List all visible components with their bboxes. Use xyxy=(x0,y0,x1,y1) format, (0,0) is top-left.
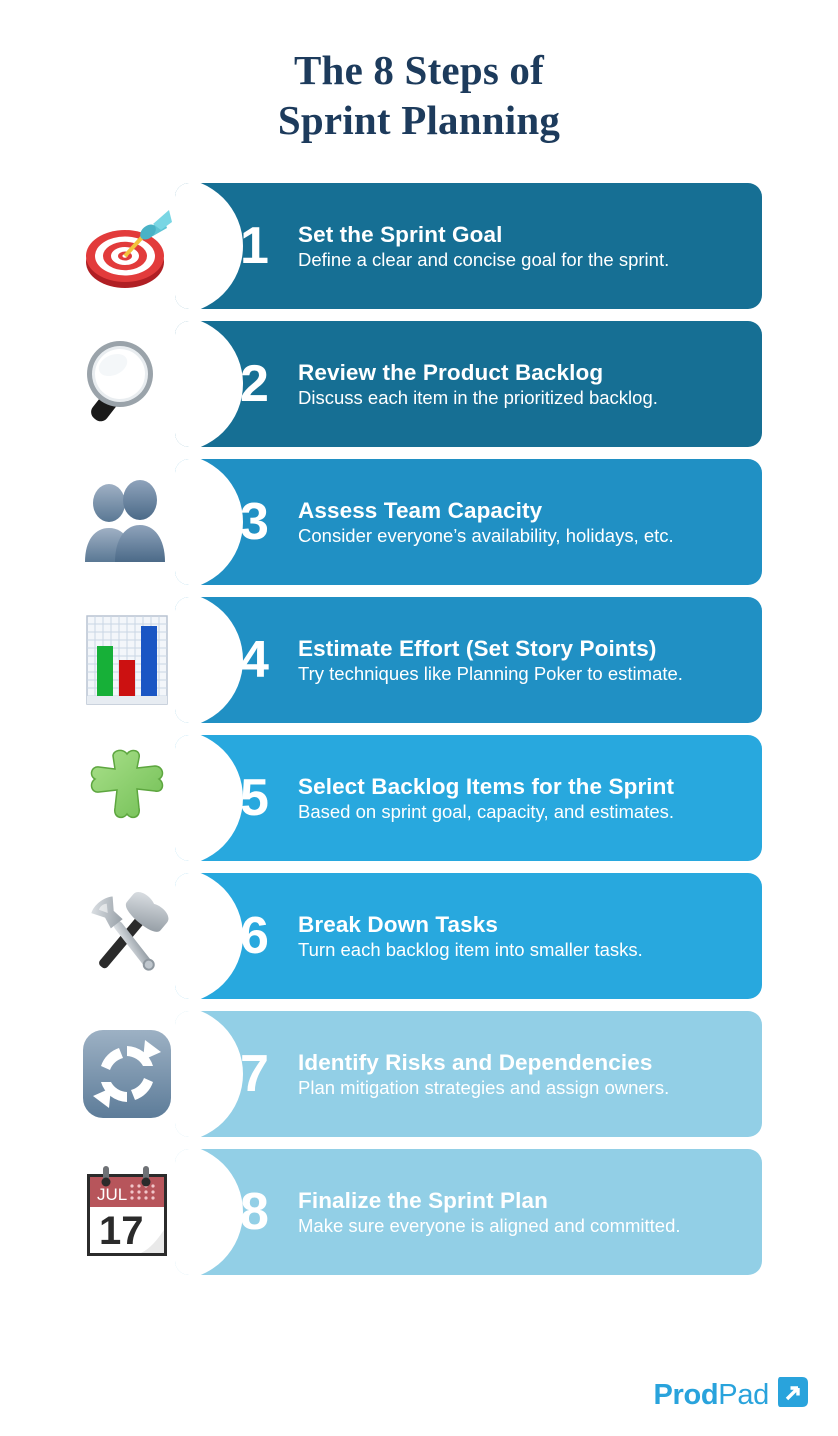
step-row: JUL 17 8Finalize the Sprint PlanMake sur… xyxy=(0,1149,838,1275)
logo-wordmark: ProdPad xyxy=(653,1380,769,1410)
puzzle-piece-icon xyxy=(75,746,179,850)
step-row: 6Break Down TasksTurn each backlog item … xyxy=(0,873,838,999)
logo-text-bold: Prod xyxy=(653,1379,718,1411)
step-description: Try techniques like Planning Poker to es… xyxy=(298,662,683,686)
step-row: 4Estimate Effort (Set Story Points)Try t… xyxy=(0,597,838,723)
step-row: 1Set the Sprint GoalDefine a clear and c… xyxy=(0,183,838,309)
step-row: 3Assess Team CapacityConsider everyone’s… xyxy=(0,459,838,585)
refresh-arrows-icon xyxy=(72,1019,182,1129)
step-content: 7Identify Risks and DependenciesPlan mit… xyxy=(240,1011,760,1137)
step-description: Define a clear and concise goal for the … xyxy=(298,248,669,272)
step-number: 5 xyxy=(240,772,286,824)
step-number: 7 xyxy=(240,1048,286,1100)
logo-text-light: Pad xyxy=(718,1379,769,1411)
step-row: 2Review the Product BacklogDiscuss each … xyxy=(0,321,838,447)
magnifying-glass-icon xyxy=(75,332,179,436)
step-description: Make sure everyone is aligned and commit… xyxy=(298,1214,681,1238)
title-line-1: The 8 Steps of xyxy=(294,47,544,93)
page-title: The 8 Steps of Sprint Planning xyxy=(0,0,838,145)
step-title: Select Backlog Items for the Sprint xyxy=(298,773,674,800)
bar-chart-icon xyxy=(75,608,179,712)
step-description: Consider everyone’s availability, holida… xyxy=(298,524,674,548)
dartboard-target-icon xyxy=(72,191,182,301)
step-row: 7Identify Risks and DependenciesPlan mit… xyxy=(0,1011,838,1137)
step-number: 4 xyxy=(240,634,286,686)
step-text-block: Break Down TasksTurn each backlog item i… xyxy=(298,911,643,962)
step-title: Break Down Tasks xyxy=(298,911,643,938)
step-number: 6 xyxy=(240,910,286,962)
dartboard-target-icon xyxy=(75,194,179,298)
arrow-up-right-icon xyxy=(776,1375,810,1414)
title-line-2: Sprint Planning xyxy=(0,95,838,145)
step-content: 3Assess Team CapacityConsider everyone’s… xyxy=(240,459,760,585)
step-description: Discuss each item in the prioritized bac… xyxy=(298,386,658,410)
calendar-day-label: 17 xyxy=(99,1209,144,1253)
puzzle-piece-icon xyxy=(72,743,182,853)
step-text-block: Assess Team CapacityConsider everyone’s … xyxy=(298,497,674,548)
step-content: 4Estimate Effort (Set Story Points)Try t… xyxy=(240,597,760,723)
step-content: 8Finalize the Sprint PlanMake sure every… xyxy=(240,1149,760,1275)
step-description: Turn each backlog item into smaller task… xyxy=(298,938,643,962)
two-people-icon xyxy=(75,470,179,574)
step-text-block: Review the Product BacklogDiscuss each i… xyxy=(298,359,658,410)
hammer-and-wrench-icon xyxy=(75,884,179,988)
calendar-month-label: JUL xyxy=(97,1185,127,1204)
step-content: 1Set the Sprint GoalDefine a clear and c… xyxy=(240,183,760,309)
hammer-and-wrench-icon xyxy=(72,881,182,991)
magnifying-glass-icon xyxy=(72,329,182,439)
step-number: 2 xyxy=(240,358,286,410)
step-content: 6Break Down TasksTurn each backlog item … xyxy=(240,873,760,999)
step-title: Estimate Effort (Set Story Points) xyxy=(298,635,683,662)
step-number: 8 xyxy=(240,1186,286,1238)
step-text-block: Select Backlog Items for the SprintBased… xyxy=(298,773,674,824)
step-text-block: Identify Risks and DependenciesPlan miti… xyxy=(298,1049,669,1100)
step-number: 1 xyxy=(240,220,286,272)
calendar-icon: JUL 17 xyxy=(72,1157,182,1267)
calendar-icon: JUL 17 xyxy=(75,1160,179,1264)
step-title: Assess Team Capacity xyxy=(298,497,674,524)
bar-chart-icon xyxy=(72,605,182,715)
step-content: 5Select Backlog Items for the SprintBase… xyxy=(240,735,760,861)
step-title: Identify Risks and Dependencies xyxy=(298,1049,669,1076)
step-title: Set the Sprint Goal xyxy=(298,221,669,248)
step-title: Finalize the Sprint Plan xyxy=(298,1187,681,1214)
step-row: 5Select Backlog Items for the SprintBase… xyxy=(0,735,838,861)
step-text-block: Finalize the Sprint PlanMake sure everyo… xyxy=(298,1187,681,1238)
step-text-block: Estimate Effort (Set Story Points)Try te… xyxy=(298,635,683,686)
refresh-arrows-icon xyxy=(75,1022,179,1126)
step-content: 2Review the Product BacklogDiscuss each … xyxy=(240,321,760,447)
step-title: Review the Product Backlog xyxy=(298,359,658,386)
steps-list: 1Set the Sprint GoalDefine a clear and c… xyxy=(0,183,838,1287)
step-number: 3 xyxy=(240,496,286,548)
two-people-icon xyxy=(72,467,182,577)
step-text-block: Set the Sprint GoalDefine a clear and co… xyxy=(298,221,669,272)
step-description: Based on sprint goal, capacity, and esti… xyxy=(298,800,674,824)
prodpad-logo[interactable]: ProdPad xyxy=(653,1375,810,1414)
step-description: Plan mitigation strategies and assign ow… xyxy=(298,1076,669,1100)
